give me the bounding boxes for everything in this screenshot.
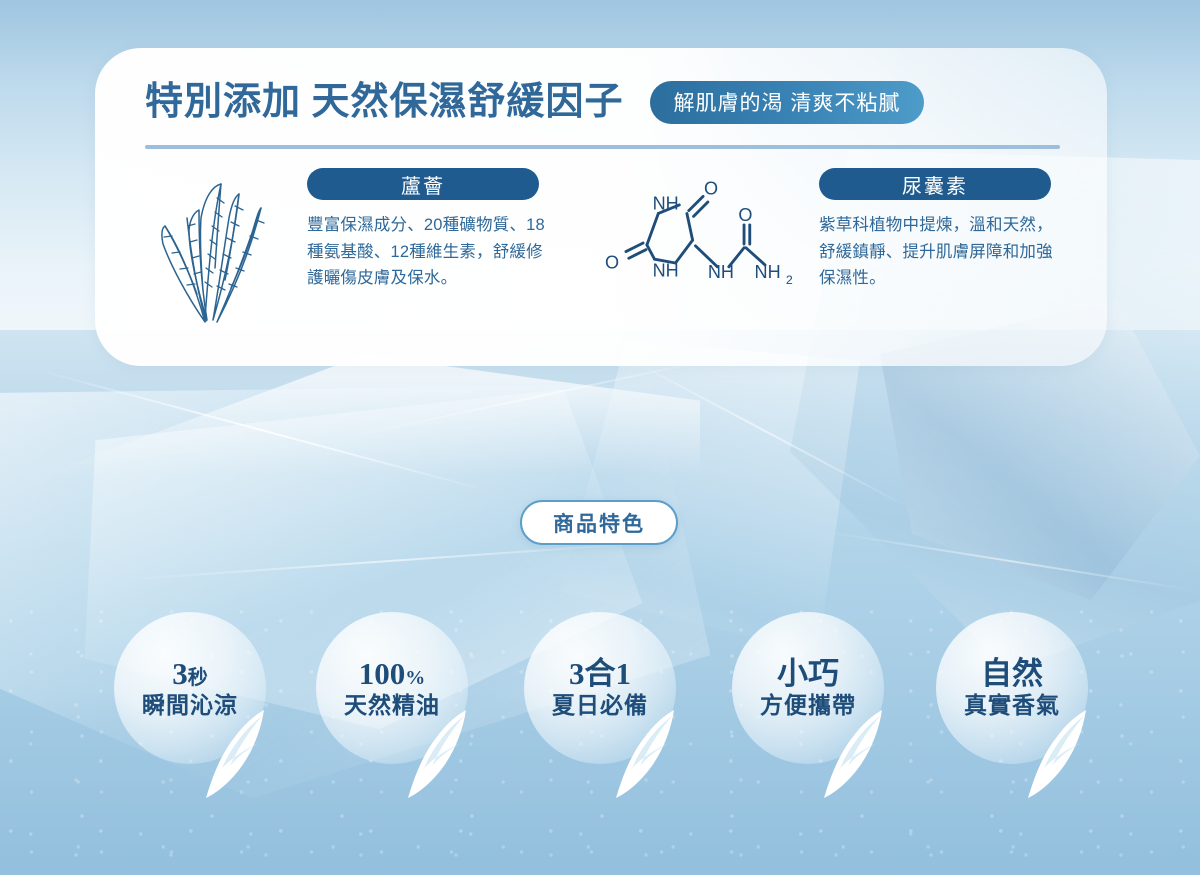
feature-bubble-headline-unit: % bbox=[405, 667, 425, 689]
feature-bubble-content: 100% 天然精油 bbox=[344, 657, 440, 718]
feature-bubble-content: 自然 真實香氣 bbox=[964, 657, 1060, 718]
feature-bubble: 100% 天然精油 bbox=[316, 612, 468, 764]
feature-bubble-content: 3合1 夏日必備 bbox=[552, 657, 648, 718]
svg-text:NH: NH bbox=[653, 260, 679, 280]
leaf-icon bbox=[202, 706, 280, 802]
feature-bubble-headline: 自然 bbox=[964, 657, 1060, 691]
ingredient-description: 豐富保濕成分、20種礦物質、18種氨基酸、12種維生素，舒緩修護曬傷皮膚及保水。 bbox=[307, 212, 545, 292]
aloe-icon bbox=[143, 168, 293, 338]
ingredient-card: 特別添加 天然保濕舒緩因子 解肌膚的渴 清爽不粘膩 bbox=[95, 48, 1107, 366]
feature-bubble: 3合1 夏日必備 bbox=[524, 612, 676, 764]
feature-bubble-content: 3秒 瞬間沁涼 bbox=[142, 657, 238, 718]
feature-bubble: 自然 真實香氣 bbox=[936, 612, 1088, 764]
feature-bubble-subline: 天然精油 bbox=[344, 693, 440, 718]
feature-bubble-headline-main: 3 bbox=[172, 656, 188, 691]
features-section-label: 商品特色 bbox=[520, 500, 678, 545]
feature-bubble-subline: 真實香氣 bbox=[964, 693, 1060, 718]
ingredient-name-badge: 尿囊素 bbox=[819, 168, 1051, 200]
ingredient-description: 紫草科植物中提煉，溫和天然，舒緩鎮靜、提升肌膚屏障和加強保濕性。 bbox=[819, 212, 1057, 292]
page-title: 特別添加 天然保濕舒緩因子 bbox=[145, 83, 624, 121]
feature-bubble: 小巧 方便攜帶 bbox=[732, 612, 884, 764]
feature-bubble-headline-unit: 秒 bbox=[188, 667, 208, 689]
feature-bubble-headline-main: 自然 bbox=[981, 656, 1043, 691]
feature-bubble-headline: 小巧 bbox=[760, 657, 856, 691]
feature-bubble-subline: 瞬間沁涼 bbox=[142, 693, 238, 718]
feature-bubble-headline: 100% bbox=[344, 657, 440, 691]
feature-bubble-list: 3秒 瞬間沁涼 100% 天然精油 3合1 夏日必備 bbox=[0, 612, 1200, 812]
leaf-icon bbox=[404, 706, 482, 802]
svg-text:O: O bbox=[704, 178, 718, 198]
feature-bubble-headline-main: 100 bbox=[359, 656, 406, 691]
svg-text:NH: NH bbox=[653, 194, 679, 214]
feature-bubble-subline: 夏日必備 bbox=[552, 693, 648, 718]
ingredient-block-allantoin: O NH O NH NH O NH 2 尿囊素 紫草科植物中提煉，溫和天然，舒緩… bbox=[605, 168, 1075, 338]
poster-canvas: 特別添加 天然保濕舒緩因子 解肌膚的渴 清爽不粘膩 bbox=[0, 0, 1200, 875]
svg-text:2: 2 bbox=[786, 273, 793, 287]
feature-bubble-headline: 3秒 bbox=[142, 657, 238, 691]
leaf-icon bbox=[820, 706, 898, 802]
svg-text:NH: NH bbox=[755, 262, 781, 282]
svg-text:NH: NH bbox=[708, 262, 734, 282]
aloe-text-block: 蘆薈 豐富保濕成分、20種礦物質、18種氨基酸、12種維生素，舒緩修護曬傷皮膚及… bbox=[307, 168, 603, 338]
leaf-icon bbox=[612, 706, 690, 802]
leaf-icon bbox=[1024, 706, 1102, 802]
allantoin-text-block: 尿囊素 紫草科植物中提煉，溫和天然，舒緩鎮靜、提升肌膚屏障和加強保濕性。 bbox=[819, 168, 1075, 338]
allantoin-molecule-icon: O NH O NH NH O NH 2 bbox=[605, 168, 805, 338]
ingredient-block-aloe: 蘆薈 豐富保濕成分、20種礦物質、18種氨基酸、12種維生素，舒緩修護曬傷皮膚及… bbox=[143, 168, 603, 338]
feature-bubble: 3秒 瞬間沁涼 bbox=[114, 612, 266, 764]
feature-bubble-headline-main: 3合1 bbox=[569, 656, 631, 691]
feature-bubble-subline: 方便攜帶 bbox=[760, 693, 856, 718]
svg-text:O: O bbox=[605, 253, 619, 273]
header-divider bbox=[145, 145, 1060, 149]
svg-text:O: O bbox=[738, 205, 752, 225]
tagline-badge: 解肌膚的渴 清爽不粘膩 bbox=[650, 81, 925, 124]
ingredient-name-badge: 蘆薈 bbox=[307, 168, 539, 200]
card-header: 特別添加 天然保濕舒緩因子 解肌膚的渴 清爽不粘膩 bbox=[145, 72, 1075, 132]
feature-bubble-content: 小巧 方便攜帶 bbox=[760, 657, 856, 718]
feature-bubble-headline: 3合1 bbox=[552, 657, 648, 691]
feature-bubble-headline-main: 小巧 bbox=[777, 656, 839, 691]
